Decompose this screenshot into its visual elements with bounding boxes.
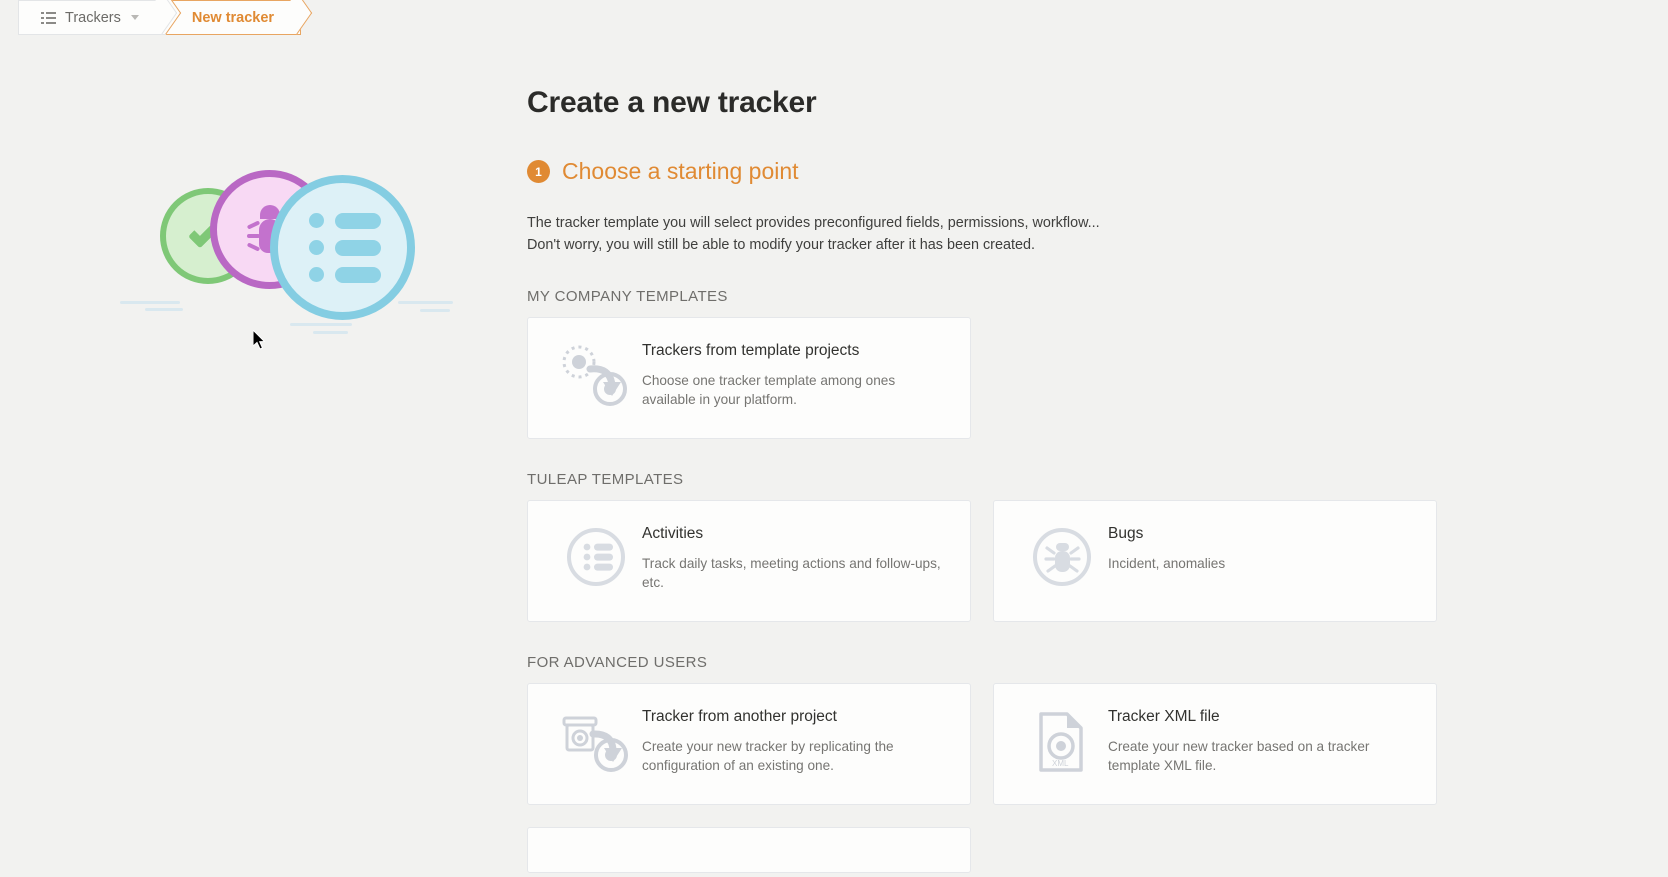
card-activities[interactable]: Activities Track daily tasks, meeting ac… [527, 500, 971, 622]
card-body: Trackers from template projects Choose o… [642, 340, 950, 409]
bug-icon [1016, 523, 1108, 587]
activities-list-icon [550, 523, 642, 587]
card-partial-below-fold[interactable] [527, 827, 971, 873]
breadcrumb-label-new-tracker: New tracker [192, 10, 274, 26]
card-title: Tracker XML file [1108, 708, 1416, 726]
another-project-icon [550, 706, 642, 774]
card-description: Choose one tracker template among ones a… [642, 371, 950, 409]
card-description: Incident, anomalies [1108, 554, 1225, 573]
mouse-cursor [253, 330, 267, 350]
intro-line-2: Don't worry, you will still be able to m… [527, 234, 1457, 256]
xml-file-icon: XML [1016, 706, 1108, 774]
list-glyph-icon [309, 213, 381, 283]
step-title: Choose a starting point [562, 158, 799, 185]
card-description: Track daily tasks, meeting actions and f… [642, 554, 950, 592]
page-title: Create a new tracker [527, 86, 1457, 120]
card-title: Trackers from template projects [642, 342, 950, 360]
intro-line-1: The tracker template you will select pro… [527, 212, 1457, 234]
card-grid-company: Trackers from template projects Choose o… [527, 317, 1457, 439]
decor-line [420, 309, 450, 312]
card-title: Activities [642, 525, 950, 543]
card-grid-tuleap: Activities Track daily tasks, meeting ac… [527, 500, 1457, 622]
card-description: Create your new tracker based on a track… [1108, 737, 1416, 775]
card-trackers-from-template-projects[interactable]: Trackers from template projects Choose o… [527, 317, 971, 439]
decor-line [398, 301, 453, 304]
card-tracker-from-another-project[interactable]: Tracker from another project Create your… [527, 683, 971, 805]
breadcrumb-label-trackers: Trackers [65, 10, 121, 26]
decor-line [145, 308, 183, 311]
svg-text:XML: XML [1052, 759, 1069, 768]
decor-line [120, 301, 180, 304]
breadcrumb: Trackers New tracker [18, 0, 301, 35]
list-icon [41, 12, 56, 24]
card-title: Tracker from another project [642, 708, 950, 726]
card-body: Tracker XML file Create your new tracker… [1108, 706, 1416, 775]
decor-line [313, 331, 348, 334]
trackers-illustration [115, 165, 465, 345]
card-body: Activities Track daily tasks, meeting ac… [642, 523, 950, 592]
card-tracker-xml-file[interactable]: XML Tracker XML file Create your new tra… [993, 683, 1437, 805]
section-label-advanced: FOR ADVANCED USERS [527, 654, 1457, 671]
breadcrumb-item-new-tracker[interactable]: New tracker [166, 0, 301, 35]
chevron-down-icon[interactable] [131, 15, 139, 20]
section-label-tuleap: TULEAP TEMPLATES [527, 471, 1457, 488]
card-body: Bugs Incident, anomalies [1108, 523, 1225, 573]
step-heading: 1 Choose a starting point [527, 158, 1457, 185]
decor-line [290, 323, 352, 326]
card-description: Create your new tracker by replicating t… [642, 737, 950, 775]
card-bugs[interactable]: Bugs Incident, anomalies [993, 500, 1437, 622]
card-body: Tracker from another project Create your… [642, 706, 950, 775]
intro-text: The tracker template you will select pro… [527, 212, 1457, 256]
template-projects-icon [550, 340, 642, 408]
main-content: Create a new tracker 1 Choose a starting… [527, 86, 1457, 873]
card-title: Bugs [1108, 525, 1225, 543]
breadcrumb-item-trackers[interactable]: Trackers [18, 0, 166, 35]
card-grid-advanced: Tracker from another project Create your… [527, 683, 1457, 805]
card-grid-partial [527, 827, 1457, 873]
step-number-badge: 1 [527, 160, 550, 183]
section-label-company: MY COMPANY TEMPLATES [527, 288, 1457, 305]
